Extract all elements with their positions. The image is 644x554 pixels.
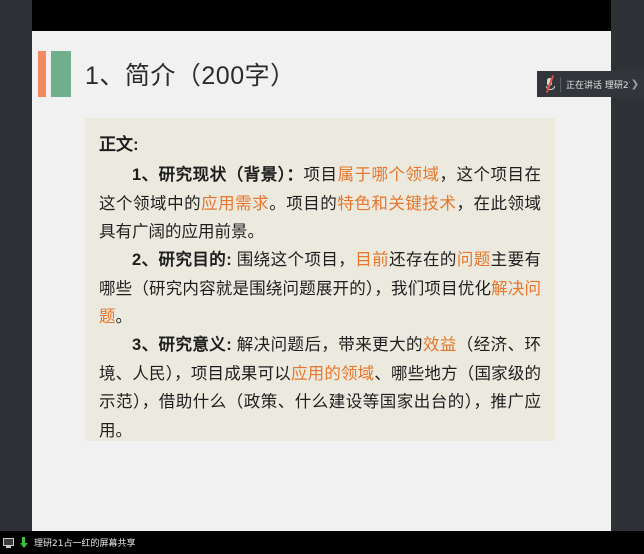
active-speaker-label: 正在讲话 理研21户一红 (566, 78, 630, 91)
highlighted-text: 效益 (423, 336, 457, 354)
body-label: 正文: (99, 130, 541, 159)
accent-bar-orange (38, 51, 46, 97)
download-head-shape (20, 543, 28, 548)
monitor-stand-shape (6, 546, 11, 548)
monitor-screen-shape (3, 538, 14, 546)
monitor-icon[interactable] (3, 537, 14, 548)
body-text: 围绕这个项目， (232, 251, 356, 269)
taskbar: 理研21占一红的屏幕共享 (0, 531, 644, 554)
body-text: 解决问题后，带来更大的 (232, 336, 423, 354)
presentation-slide: 1、简介（200字） 正文: 1、研究现状（背景）：项目属于哪个领域，这个项目在… (32, 31, 611, 531)
body-text: 。 (116, 308, 133, 326)
mic-muted-icon[interactable] (544, 76, 556, 92)
chevron-right-icon[interactable]: ❯ (630, 79, 640, 90)
highlighted-text: 问题 (457, 251, 491, 269)
body-paragraph: 1、研究现状（背景）：项目属于哪个领域，这个项目在这个领域中的应用需求。项目的特… (99, 161, 541, 246)
highlighted-text: 属于哪个领域 (337, 166, 439, 184)
body-text: 。项目的 (269, 195, 337, 213)
body-paragraph: 2、研究目的: 围绕这个项目，目前还存在的问题主要有哪些（研究内容就是围绕问题展… (99, 246, 541, 331)
highlighted-text: 目前 (355, 251, 389, 269)
paragraph-heading: 1、研究现状（背景）： (132, 166, 303, 184)
slide-title-row: 1、简介（200字） (32, 48, 611, 100)
taskbar-share-label: 理研21占一红的屏幕共享 (34, 536, 135, 549)
download-arrow-icon[interactable] (18, 536, 29, 549)
paragraph-heading: 2、研究目的: (132, 251, 232, 269)
accent-bar-green (51, 51, 71, 97)
letterbox-top-band (32, 0, 611, 31)
highlighted-text: 特色和关键技术 (337, 195, 456, 213)
highlighted-text: 应用需求 (201, 195, 269, 213)
left-dark-band (0, 0, 32, 531)
slide-body-panel: 正文: 1、研究现状（背景）：项目属于哪个领域，这个项目在这个领域中的应用需求。… (85, 118, 555, 441)
screen-share-frame: 1、简介（200字） 正文: 1、研究现状（背景）：项目属于哪个领域，这个项目在… (0, 0, 644, 554)
highlighted-text: 应用的领域 (291, 365, 374, 383)
slide-title: 1、简介（200字） (85, 56, 296, 92)
slide-body-text: 正文: 1、研究现状（背景）：项目属于哪个领域，这个项目在这个领域中的应用需求。… (85, 118, 555, 455)
body-text: 项目 (303, 166, 337, 184)
active-speaker-overlay[interactable]: 正在讲话 理研21户一红 ❯ (537, 71, 644, 97)
paragraph-list: 1、研究现状（背景）：项目属于哪个领域，这个项目在这个领域中的应用需求。项目的特… (99, 161, 541, 445)
overlay-divider (560, 77, 561, 92)
paragraph-heading: 3、研究意义: (132, 336, 232, 354)
body-text: 还存在的 (389, 251, 457, 269)
body-paragraph: 3、研究意义: 解决问题后，带来更大的效益（经济、环境、人民），项目成果可以应用… (99, 331, 541, 445)
